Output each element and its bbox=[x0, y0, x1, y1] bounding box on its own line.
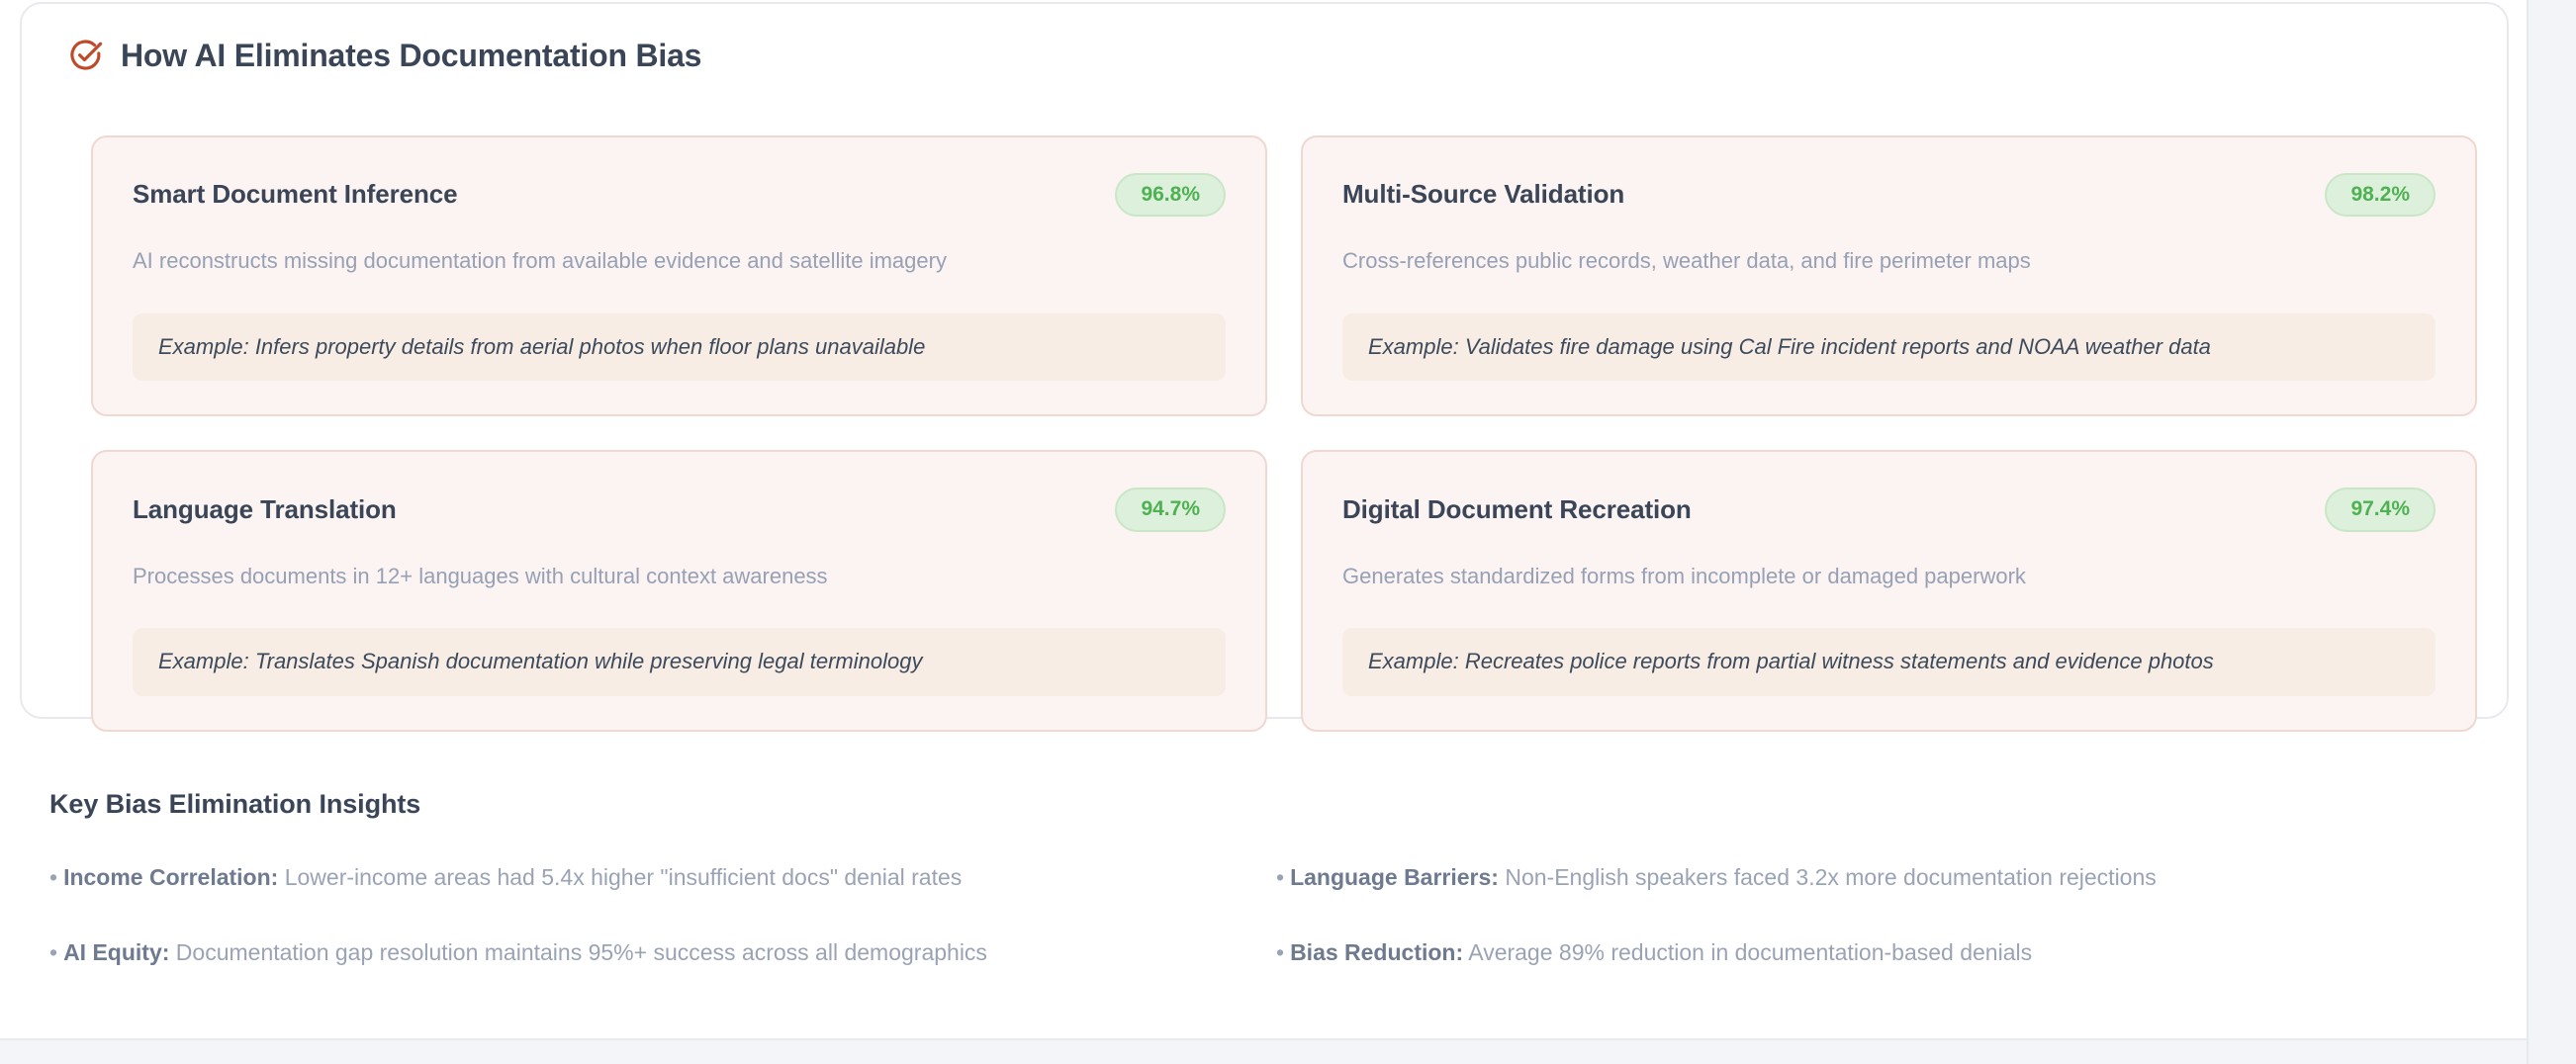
card-example: Example: Translates Spanish documentatio… bbox=[133, 628, 1226, 696]
insight-text: Lower-income areas had 5.4x higher "insu… bbox=[285, 864, 963, 890]
card-description: Processes documents in 12+ languages wit… bbox=[133, 562, 1226, 591]
insight-item-income-correlation: •Income Correlation: Lower-income areas … bbox=[49, 863, 1276, 893]
feature-card-digital-document-recreation[interactable]: Digital Document Recreation 97.4% Genera… bbox=[1301, 450, 2477, 731]
feature-card-language-translation[interactable]: Language Translation 94.7% Processes doc… bbox=[91, 450, 1267, 731]
insight-text: Documentation gap resolution maintains 9… bbox=[176, 939, 987, 965]
accuracy-badge: 94.7% bbox=[1115, 488, 1226, 531]
insight-item-language-barriers: •Language Barriers: Non-English speakers… bbox=[1276, 863, 2463, 893]
card-header: Multi-Source Validation 98.2% bbox=[1342, 173, 2436, 217]
card-title: Smart Document Inference bbox=[133, 179, 457, 210]
accuracy-badge: 96.8% bbox=[1115, 173, 1226, 217]
content-column: How AI Eliminates Documentation Bias Sma… bbox=[0, 0, 2529, 1064]
card-example: Example: Recreates police reports from p… bbox=[1342, 628, 2436, 696]
key-insights-section: Key Bias Elimination Insights •Income Co… bbox=[49, 791, 2463, 968]
feature-cards-grid: Smart Document Inference 96.8% AI recons… bbox=[91, 135, 2477, 732]
insight-text: Average 89% reduction in documentation-b… bbox=[1468, 939, 2032, 965]
panel-header: How AI Eliminates Documentation Bias bbox=[67, 38, 701, 73]
bullet-icon: • bbox=[1276, 939, 1284, 965]
bullet-icon: • bbox=[49, 939, 57, 965]
insights-grid: •Income Correlation: Lower-income areas … bbox=[49, 863, 2463, 968]
card-example: Example: Validates fire damage using Cal… bbox=[1342, 313, 2436, 382]
card-description: AI reconstructs missing documentation fr… bbox=[133, 246, 1226, 276]
card-example: Example: Infers property details from ae… bbox=[133, 313, 1226, 382]
insight-item-bias-reduction: •Bias Reduction: Average 89% reduction i… bbox=[1276, 938, 2463, 968]
bullet-icon: • bbox=[49, 864, 57, 890]
card-header: Digital Document Recreation 97.4% bbox=[1342, 488, 2436, 531]
insights-title: Key Bias Elimination Insights bbox=[49, 791, 2463, 818]
circle-check-icon bbox=[67, 38, 103, 73]
card-header: Language Translation 94.7% bbox=[133, 488, 1226, 531]
page-title: How AI Eliminates Documentation Bias bbox=[121, 40, 701, 71]
bullet-icon: • bbox=[1276, 864, 1284, 890]
screenshot-root: How AI Eliminates Documentation Bias Sma… bbox=[0, 0, 2576, 1064]
card-header: Smart Document Inference 96.8% bbox=[133, 173, 1226, 217]
insight-item-ai-equity: •AI Equity: Documentation gap resolution… bbox=[49, 938, 1276, 968]
documentation-bias-panel: How AI Eliminates Documentation Bias Sma… bbox=[20, 2, 2509, 719]
card-title: Language Translation bbox=[133, 494, 397, 525]
bottom-strip bbox=[0, 1040, 2529, 1064]
accuracy-badge: 98.2% bbox=[2325, 173, 2436, 217]
insight-text: Non-English speakers faced 3.2x more doc… bbox=[1505, 864, 2156, 890]
accuracy-badge: 97.4% bbox=[2325, 488, 2436, 531]
card-title: Multi-Source Validation bbox=[1342, 179, 1624, 210]
insight-label: Bias Reduction: bbox=[1290, 939, 1463, 965]
card-description: Cross-references public records, weather… bbox=[1342, 246, 2436, 276]
insight-label: Language Barriers: bbox=[1290, 864, 1499, 890]
page-right-gutter bbox=[2529, 0, 2576, 1064]
card-title: Digital Document Recreation bbox=[1342, 494, 1692, 525]
insight-label: AI Equity: bbox=[63, 939, 169, 965]
insight-label: Income Correlation: bbox=[63, 864, 278, 890]
feature-card-multi-source-validation[interactable]: Multi-Source Validation 98.2% Cross-refe… bbox=[1301, 135, 2477, 416]
feature-card-smart-document-inference[interactable]: Smart Document Inference 96.8% AI recons… bbox=[91, 135, 1267, 416]
card-description: Generates standardized forms from incomp… bbox=[1342, 562, 2436, 591]
